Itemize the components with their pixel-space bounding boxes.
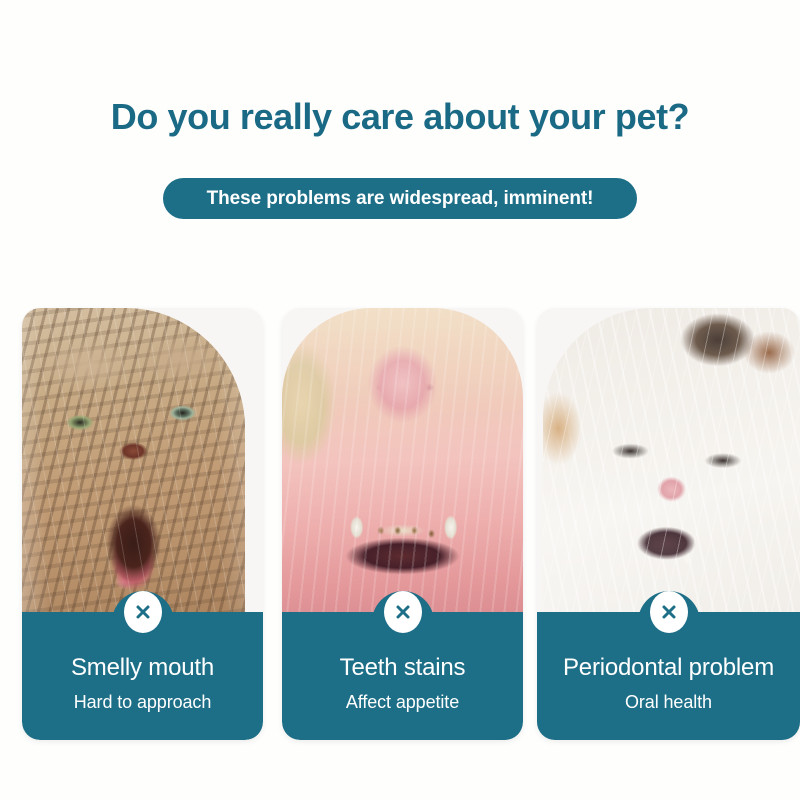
card-footer: Periodontal problem Oral health	[537, 612, 800, 740]
stained-teeth-image	[282, 308, 523, 626]
card-footer: Teeth stains Affect appetite	[282, 612, 523, 740]
cat-yawning-image	[22, 308, 245, 626]
problem-card[interactable]: Smelly mouth Hard to approach	[22, 308, 263, 740]
card-subtitle: Hard to approach	[22, 692, 263, 713]
card-title: Smelly mouth	[22, 654, 263, 682]
card-title: Periodontal problem	[537, 654, 800, 682]
page-title: Do you really care about your pet?	[0, 96, 800, 138]
x-circle-icon	[384, 591, 422, 633]
card-photo	[282, 308, 523, 626]
card-photo	[22, 308, 263, 626]
white-cat-image	[543, 308, 800, 626]
x-circle-icon	[650, 591, 688, 633]
subtitle-badge-label: These problems are widespread, imminent!	[207, 188, 594, 210]
card-photo	[537, 308, 800, 626]
problem-card[interactable]: Teeth stains Affect appetite	[282, 308, 523, 740]
subtitle-badge: These problems are widespread, imminent!	[163, 178, 637, 219]
card-footer: Smelly mouth Hard to approach	[22, 612, 263, 740]
card-subtitle: Affect appetite	[282, 692, 523, 713]
card-subtitle: Oral health	[537, 692, 800, 713]
problem-card-list: Smelly mouth Hard to approach Teeth stai…	[0, 308, 800, 748]
problem-card[interactable]: Periodontal problem Oral health	[537, 308, 800, 740]
card-title: Teeth stains	[282, 654, 523, 682]
x-circle-icon	[124, 591, 162, 633]
